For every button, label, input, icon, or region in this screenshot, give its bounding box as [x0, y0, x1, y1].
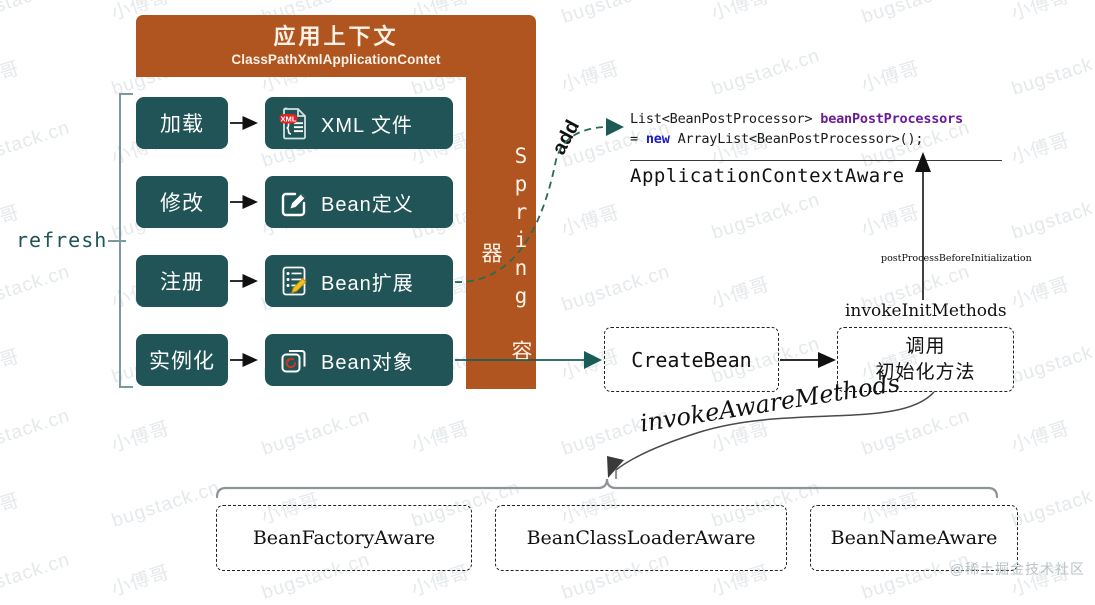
watermark-text: 小傅哥	[107, 413, 172, 457]
watermark-text: 小傅哥	[557, 197, 622, 241]
source-credit: @稀土掘金技术社区	[950, 559, 1085, 579]
aware-box-bean-class-loader[interactable]: BeanClassLoaderAware	[495, 505, 787, 571]
watermark-text: 小傅哥	[1007, 0, 1072, 26]
watermark-text: 小傅哥	[1007, 125, 1072, 169]
code-line-1-type: List<BeanPostProcessor>	[630, 111, 820, 127]
code-line-2: = new ArrayList<BeanPostProcessor>();	[630, 130, 1000, 150]
watermark-text: 小傅哥	[0, 53, 23, 97]
aware-box-label: BeanClassLoaderAware	[527, 527, 756, 549]
step-action-label: 注册	[160, 266, 204, 296]
banner-title: 应用上下文	[273, 25, 398, 49]
watermark-text: bugstack.cn	[0, 261, 73, 317]
step-action-label: 修改	[160, 187, 204, 217]
step-arrows	[230, 123, 256, 360]
step-action-register[interactable]: 注册	[136, 255, 228, 307]
watermark-text: bugstack.cn	[1009, 333, 1095, 389]
list-pencil-icon	[277, 264, 311, 298]
watermark-text: 小傅哥	[0, 485, 23, 529]
watermark-text: 小傅哥	[1007, 413, 1072, 457]
refresh-bracket-tick	[108, 240, 126, 242]
watermark-text: bugstack.cn	[709, 45, 823, 101]
svg-text:XML: XML	[280, 114, 296, 123]
post-process-vertical-edge	[915, 152, 931, 300]
step-target-bean-extension[interactable]: Bean扩展	[265, 255, 453, 307]
createbean-to-invokeinit-edge	[780, 352, 836, 368]
diagram-canvas: bugstack.cn小傅哥bugstack.cn小傅哥bugstack.cn小…	[0, 0, 1095, 589]
watermark-text: 小傅哥	[707, 269, 772, 313]
step-action-load[interactable]: 加载	[136, 97, 228, 149]
invoke-init-methods-label: invokeInitMethods	[845, 301, 1007, 321]
aware-group-brace	[217, 470, 997, 497]
add-edge-label: add	[548, 117, 585, 159]
aware-box-label: BeanFactoryAware	[253, 527, 435, 549]
code-line-1: List<BeanPostProcessor> beanPostProcesso…	[630, 110, 1000, 130]
watermark-text: bugstack.cn	[0, 117, 73, 173]
step-target-label: Bean定义	[321, 188, 414, 217]
post-process-before-initialization-label: postProcessBeforeInitialization	[881, 253, 1032, 264]
watermark-text: bugstack.cn	[559, 0, 673, 29]
watermark-text: bugstack.cn	[1009, 45, 1095, 101]
edit-square-icon	[277, 185, 311, 219]
watermark-text: 小傅哥	[557, 53, 622, 97]
code-line-1-variable: beanPostProcessors	[820, 111, 963, 127]
code-line-2-ctor: ArrayList<BeanPostProcessor>();	[670, 131, 924, 147]
refresh-label: refresh	[16, 228, 107, 252]
aware-box-bean-factory[interactable]: BeanFactoryAware	[216, 505, 472, 571]
step-target-label: Bean扩展	[321, 267, 414, 296]
watermark-text: 小傅哥	[707, 0, 772, 26]
step-action-modify[interactable]: 修改	[136, 176, 228, 228]
code-divider-rule	[630, 160, 1002, 161]
step-target-bean-definition[interactable]: Bean定义	[265, 176, 453, 228]
watermark-text: bugstack.cn	[0, 0, 73, 29]
spring-container-bar: Spring 容器	[466, 77, 536, 389]
code-keyword-new: new	[646, 131, 670, 147]
watermark-text: bugstack.cn	[1009, 189, 1095, 245]
watermark-text: 小傅哥	[407, 413, 472, 457]
watermark-text: bugstack.cn	[0, 405, 73, 461]
create-bean-label: CreateBean	[631, 348, 751, 372]
watermark-text: bugstack.cn	[1009, 477, 1095, 533]
step-action-instantiate[interactable]: 实例化	[136, 334, 228, 386]
xml-file-icon: XML	[277, 106, 311, 140]
watermark-text: bugstack.cn	[259, 405, 373, 461]
spring-container-label: Spring 容器	[466, 139, 536, 369]
watermark-text: bugstack.cn	[109, 477, 223, 533]
app-context-banner: 应用上下文 ClassPathXmlApplicationContet	[136, 15, 536, 77]
watermark-text: 小傅哥	[0, 341, 23, 385]
step-target-xml-file[interactable]: XML XML 文件	[265, 97, 453, 149]
bean-post-processor-code: List<BeanPostProcessor> beanPostProcesso…	[630, 110, 1000, 149]
watermark-text: bugstack.cn	[859, 405, 973, 461]
step-target-bean-object[interactable]: Bean对象	[265, 334, 453, 386]
banner-subtitle: ClassPathXmlApplicationContet	[231, 52, 440, 67]
watermark-text: 小傅哥	[857, 53, 922, 97]
aware-box-label: BeanNameAware	[831, 527, 998, 549]
watermark-text: bugstack.cn	[709, 189, 823, 245]
invoke-init-line-1: 调用	[875, 334, 975, 360]
step-action-label: 实例化	[149, 345, 215, 375]
watermark-text: 小傅哥	[107, 557, 172, 601]
watermark-text: 小傅哥	[1007, 269, 1072, 313]
step-action-label: 加载	[160, 108, 204, 138]
object-refresh-icon	[277, 343, 311, 377]
watermark-text: bugstack.cn	[0, 549, 73, 605]
step-target-label: XML 文件	[321, 109, 413, 138]
step-target-label: Bean对象	[321, 346, 414, 375]
watermark-text: bugstack.cn	[559, 261, 673, 317]
create-bean-box[interactable]: CreateBean	[604, 327, 779, 392]
watermark-text: 小傅哥	[857, 197, 922, 241]
application-context-aware-label: ApplicationContextAware	[630, 165, 905, 187]
code-line-2-assign: =	[630, 131, 646, 147]
watermark-text: bugstack.cn	[859, 0, 973, 29]
